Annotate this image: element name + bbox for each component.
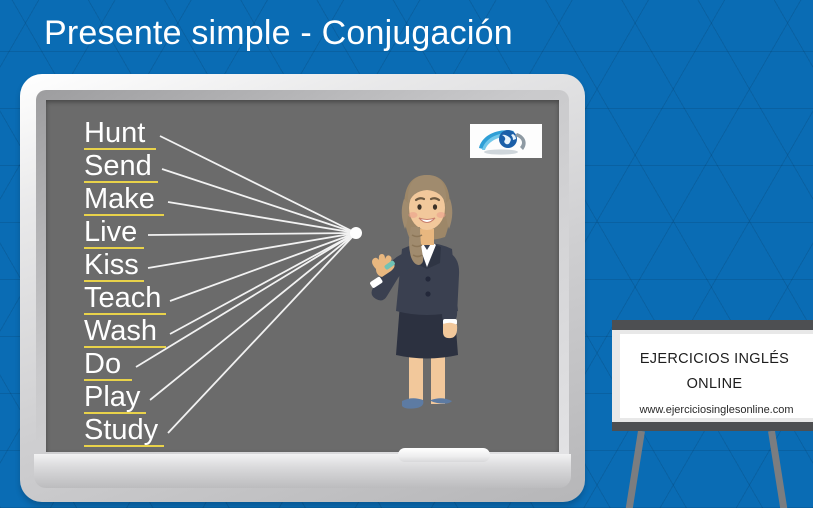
verb-label: Study <box>84 415 158 445</box>
verb-label: Send <box>84 151 152 181</box>
sign-line-2: ONLINE <box>620 376 809 392</box>
verb-item[interactable]: Send <box>84 151 214 184</box>
easel-paper: EJERCICIOS INGLÉS ONLINE www.ejerciciosi… <box>620 334 813 418</box>
easel-top-bar <box>612 320 813 330</box>
slide-canvas: Presente simple - Conjugación HuntSendMa… <box>0 0 813 508</box>
verb-label: Play <box>84 382 140 412</box>
verb-list: HuntSendMakeLiveKissTeachWashDoPlayStudy <box>84 118 214 448</box>
blackboard-ledge <box>34 454 571 488</box>
verb-item[interactable]: Play <box>84 382 214 415</box>
sign-url[interactable]: www.ejerciciosinglesonline.com <box>620 404 813 416</box>
verb-label: Wash <box>84 316 157 346</box>
easel-sign: EJERCICIOS INGLÉS ONLINE www.ejerciciosi… <box>604 320 813 508</box>
verb-underline <box>84 445 164 447</box>
teacher-illustration <box>362 163 492 418</box>
easel-leg-left <box>623 430 645 508</box>
easel-bottom-bar <box>612 422 813 431</box>
verb-item[interactable]: Do <box>84 349 214 382</box>
sign-line-1: EJERCICIOS INGLÉS <box>620 351 809 367</box>
easel-leg-right <box>768 430 790 508</box>
easel-board: EJERCICIOS INGLÉS ONLINE www.ejerciciosi… <box>612 330 813 422</box>
verb-item[interactable]: Hunt <box>84 118 214 151</box>
verb-label: Make <box>84 184 155 214</box>
verb-label: Do <box>84 349 121 379</box>
verb-label: Teach <box>84 283 161 313</box>
verb-label: Hunt <box>84 118 145 148</box>
page-title: Presente simple - Conjugación <box>44 14 513 53</box>
verb-label: Kiss <box>84 250 139 280</box>
globe-swoosh-icon <box>470 124 542 158</box>
verb-item[interactable]: Kiss <box>84 250 214 283</box>
verb-label: Live <box>84 217 137 247</box>
verb-item[interactable]: Live <box>84 217 214 250</box>
verb-item[interactable]: Teach <box>84 283 214 316</box>
verb-item[interactable]: Study <box>84 415 214 448</box>
verb-item[interactable]: Wash <box>84 316 214 349</box>
verb-item[interactable]: Make <box>84 184 214 217</box>
chalk-eraser[interactable] <box>398 448 490 462</box>
